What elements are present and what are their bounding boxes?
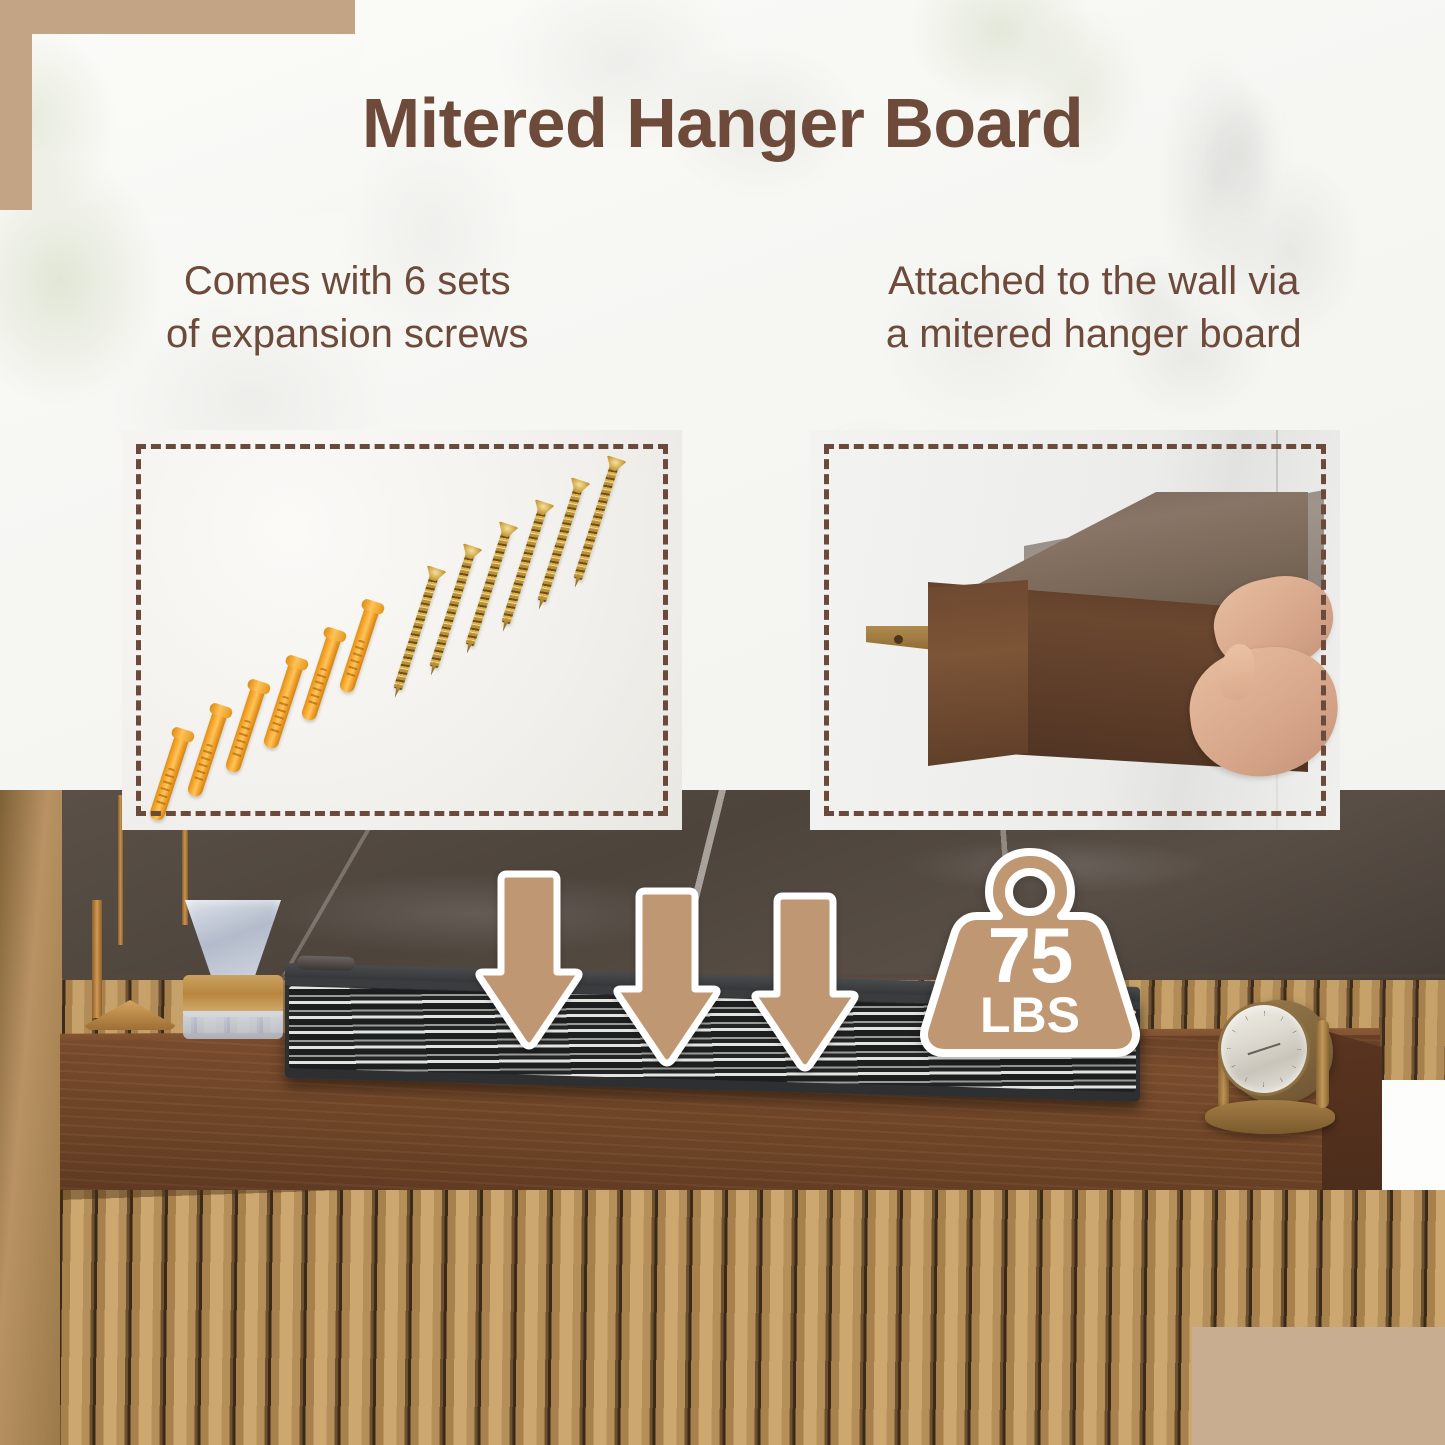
feature-caption-expansion-screws: Comes with 6 sets of expansion screws (0, 255, 723, 361)
weight-unit: LBS (905, 990, 1155, 1040)
feature-caption-line-2: a mitered hanger board (743, 308, 1445, 361)
feature-caption-line-1: Comes with 6 sets (0, 255, 695, 308)
photo-expansion-screws (122, 430, 682, 830)
page-title: Mitered Hanger Board (0, 83, 1445, 163)
weight-capacity-badge: 75 LBS (905, 840, 1155, 1065)
desk-clock-base (1205, 1100, 1335, 1134)
feature-captions: Comes with 6 sets of expansion screws At… (0, 255, 1445, 361)
soundbar-control-knob (297, 955, 355, 971)
feature-caption-hanger-board: Attached to the wall via a mitered hange… (723, 255, 1445, 361)
clock-post-right (1316, 1020, 1329, 1108)
feature-caption-line-1: Attached to the wall via (743, 255, 1445, 308)
desk-clock-face (1218, 1002, 1310, 1096)
slat-wall-left-post (0, 790, 62, 1445)
copper-stand-decor (92, 900, 102, 1018)
weight-value: 75 (905, 916, 1155, 994)
feature-caption-line-2: of expansion screws (0, 308, 695, 361)
hanger-board-screw-hole (894, 635, 903, 644)
corner-block-bottom-right (1192, 1327, 1445, 1445)
glass-vase-foot (183, 1011, 283, 1039)
shelf-end-face (928, 580, 1028, 766)
clock-tick-marks (1227, 1011, 1301, 1087)
infographic-canvas: Mitered Hanger Board Comes with 6 sets o… (0, 0, 1445, 1445)
down-arrow-icon (612, 885, 722, 1070)
photo-hanger-board-install (810, 430, 1340, 830)
down-arrow-icon (750, 890, 860, 1075)
down-arrow-icon (474, 868, 584, 1053)
